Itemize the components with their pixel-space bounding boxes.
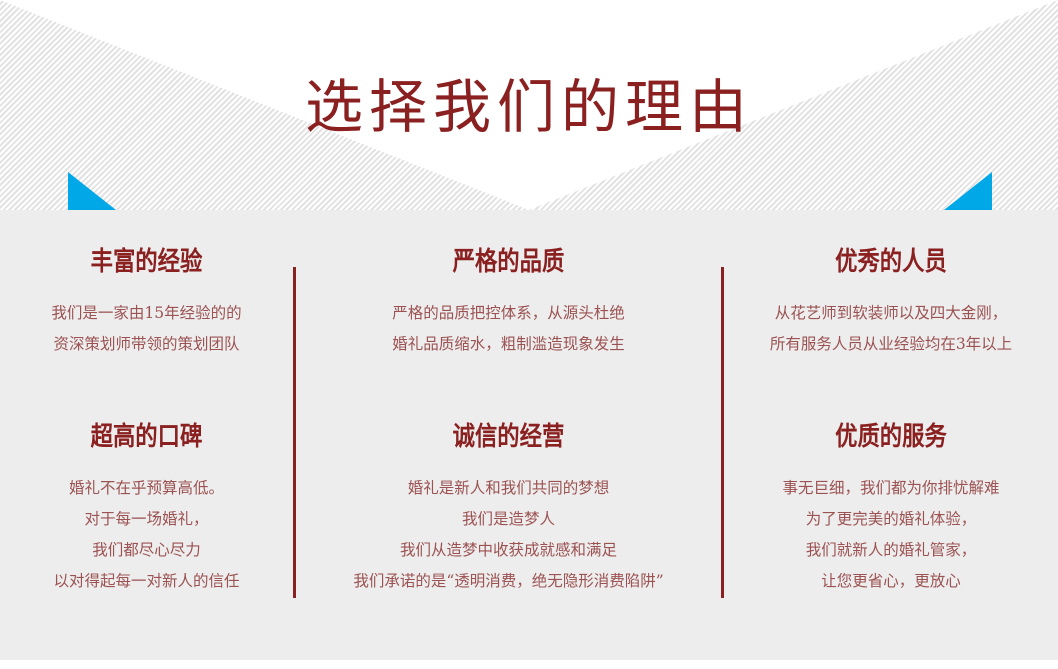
feature-body-line: 以对得起每一对新人的信任 (0, 566, 293, 597)
feature-card-experience: 丰富的经验 我们是一家由15年经验的的 资深策划师带领的策划团队 (0, 210, 293, 360)
feature-body-line: 严格的品质把控体系，从源头杜绝 (296, 298, 721, 329)
feature-card-service: 优质的服务 事无巨细，我们都为你排忧解难 为了更完美的婚礼体验， 我们就新人的婚… (724, 360, 1058, 597)
feature-title: 严格的品质 (326, 248, 692, 278)
feature-body-line: 对于每一场婚礼， (0, 504, 293, 535)
feature-column-3: 优秀的人员 从花艺师到软装师以及四大金刚， 所有服务人员从业经验均在3年以上 优… (724, 210, 1058, 597)
page-root: 选择我们的理由 丰富的经验 我们是一家由15年经验的的 资深策划师带领的策划团队… (0, 0, 1058, 669)
feature-body-line: 所有服务人员从业经验均在3年以上 (724, 329, 1058, 360)
feature-card-quality: 严格的品质 严格的品质把控体系，从源头杜绝 婚礼品质缩水，粗制滥造现象发生 (296, 210, 721, 360)
feature-body-line: 我们就新人的婚礼管家， (724, 535, 1058, 566)
feature-body: 事无巨细，我们都为你排忧解难 为了更完美的婚礼体验， 我们就新人的婚礼管家， 让… (724, 473, 1058, 597)
feature-title: 超高的口碑 (21, 423, 273, 453)
feature-body-line: 从花艺师到软装师以及四大金刚， (724, 298, 1058, 329)
feature-body-line: 我们都尽心尽力 (0, 535, 293, 566)
feature-column-2: 严格的品质 严格的品质把控体系，从源头杜绝 婚礼品质缩水，粗制滥造现象发生 诚信… (296, 210, 721, 597)
feature-card-integrity: 诚信的经营 婚礼是新人和我们共同的梦想 我们是造梦人 我们从造梦中收获成就感和满… (296, 360, 721, 597)
feature-body-line: 我们承诺的是“透明消费，绝无隐形消费陷阱” (296, 566, 721, 597)
header-banner: 选择我们的理由 (0, 0, 1058, 210)
feature-column-1: 丰富的经验 我们是一家由15年经验的的 资深策划师带领的策划团队 超高的口碑 婚… (0, 210, 293, 597)
feature-body-line: 婚礼是新人和我们共同的梦想 (296, 473, 721, 504)
feature-title: 优秀的人员 (747, 248, 1034, 278)
feature-body-line: 资深策划师带领的策划团队 (0, 329, 293, 360)
page-title: 选择我们的理由 (0, 78, 1058, 136)
feature-body-line: 我们从造梦中收获成就感和满足 (296, 535, 721, 566)
features-grid: 丰富的经验 我们是一家由15年经验的的 资深策划师带领的策划团队 超高的口碑 婚… (0, 210, 1058, 660)
feature-title: 优质的服务 (747, 423, 1034, 453)
feature-body: 婚礼是新人和我们共同的梦想 我们是造梦人 我们从造梦中收获成就感和满足 我们承诺… (296, 473, 721, 597)
feature-body-line: 让您更省心，更放心 (724, 566, 1058, 597)
feature-card-staff: 优秀的人员 从花艺师到软装师以及四大金刚， 所有服务人员从业经验均在3年以上 (724, 210, 1058, 360)
feature-body-line: 我们是造梦人 (296, 504, 721, 535)
feature-title: 诚信的经营 (326, 423, 692, 453)
feature-body-line: 婚礼品质缩水，粗制滥造现象发生 (296, 329, 721, 360)
feature-body: 从花艺师到软装师以及四大金刚， 所有服务人员从业经验均在3年以上 (724, 298, 1058, 360)
feature-body: 我们是一家由15年经验的的 资深策划师带领的策划团队 (0, 298, 293, 360)
feature-body-line: 我们是一家由15年经验的的 (0, 298, 293, 329)
feature-title: 丰富的经验 (21, 248, 273, 278)
feature-card-reputation: 超高的口碑 婚礼不在乎预算高低。 对于每一场婚礼， 我们都尽心尽力 以对得起每一… (0, 360, 293, 597)
feature-body-line: 事无巨细，我们都为你排忧解难 (724, 473, 1058, 504)
feature-body: 严格的品质把控体系，从源头杜绝 婚礼品质缩水，粗制滥造现象发生 (296, 298, 721, 360)
footer-strip (0, 660, 1058, 669)
feature-body: 婚礼不在乎预算高低。 对于每一场婚礼， 我们都尽心尽力 以对得起每一对新人的信任 (0, 473, 293, 597)
feature-body-line: 婚礼不在乎预算高低。 (0, 473, 293, 504)
feature-body-line: 为了更完美的婚礼体验， (724, 504, 1058, 535)
